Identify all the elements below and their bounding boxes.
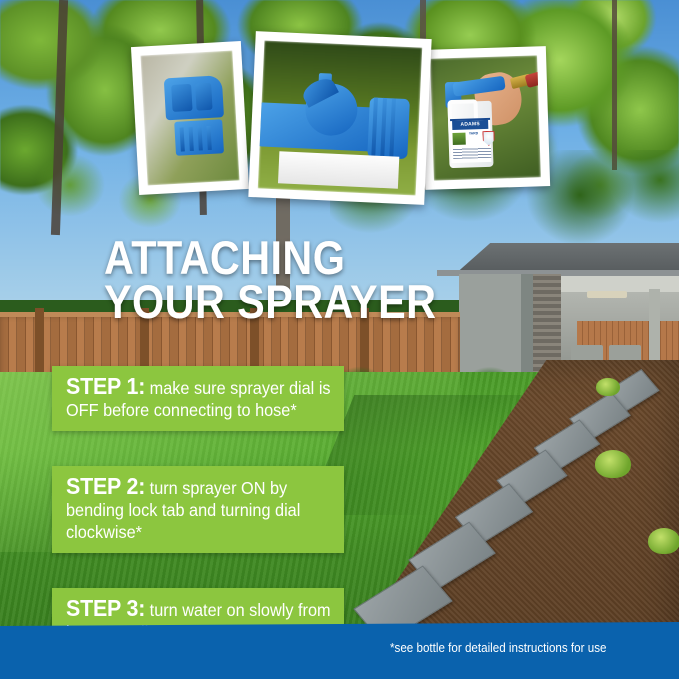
- step-item-1: STEP 1: make sure sprayer dial is OFF be…: [52, 366, 344, 431]
- step-3-label: STEP 3:: [66, 595, 145, 621]
- product-type-label: YARD: [465, 131, 481, 136]
- title-line-2: YOUR SPRAYER: [104, 280, 474, 324]
- fence-post: [35, 308, 44, 382]
- nozzle-slot: [171, 84, 192, 112]
- label-fine-print: [453, 147, 491, 159]
- steps-list: STEP 1: make sure sprayer dial is OFF be…: [52, 366, 344, 653]
- infographic-canvas: ADAMS YARD ATTACHING YOUR SPRAYER STEP 1…: [0, 0, 679, 679]
- garden-plant: [596, 378, 620, 396]
- photo-card-sprayer-dial[interactable]: [248, 31, 431, 205]
- garden-plant: [595, 450, 631, 478]
- nozzle-slot: [195, 83, 212, 111]
- photo-card-bottle-in-hand[interactable]: ADAMS YARD: [421, 46, 550, 190]
- photo-card-group: ADAMS YARD: [0, 0, 679, 220]
- page-title: ATTACHING YOUR SPRAYER: [104, 236, 474, 324]
- step-2-label: STEP 2:: [66, 473, 145, 499]
- porch-ceiling: [561, 276, 679, 292]
- photo-image: [140, 51, 239, 186]
- label-lawn-photo: [452, 133, 465, 145]
- step-1-label: STEP 1:: [66, 373, 145, 399]
- photo-image: ADAMS YARD: [430, 55, 541, 180]
- step-item-2: STEP 2: turn sprayer ON by bending lock …: [52, 466, 344, 553]
- title-line-1: ATTACHING: [104, 236, 474, 280]
- footer-disclaimer: *see bottle for detailed instructions fo…: [390, 641, 606, 655]
- garden-plant: [648, 528, 679, 554]
- brand-name: ADAMS: [452, 120, 488, 130]
- step-2-text: STEP 2: turn sprayer ON by bending lock …: [66, 475, 332, 543]
- step-1-text: STEP 1: make sure sprayer dial is OFF be…: [66, 375, 332, 421]
- porch-light: [587, 291, 627, 298]
- bottle-top: [278, 151, 399, 188]
- photo-card-sprayer-nozzle[interactable]: [131, 41, 249, 195]
- photo-image: [258, 40, 423, 195]
